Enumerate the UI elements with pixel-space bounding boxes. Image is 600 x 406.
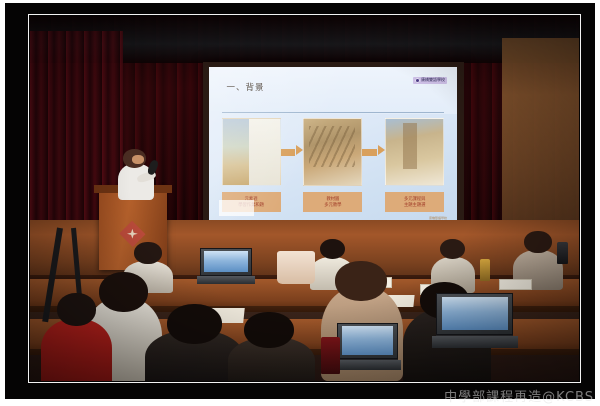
- name-card-3: [499, 279, 532, 290]
- slide-caption-2: 教材圖 多元教學: [303, 192, 362, 212]
- watermark: 中學部課程再造@KCBS: [444, 386, 594, 405]
- laptop-2[interactable]: [436, 293, 513, 348]
- attendee-front-2-head: [167, 304, 222, 344]
- laptop-1-base: [197, 276, 255, 284]
- slide-header-rule: [222, 112, 445, 113]
- laptop-1[interactable]: [200, 248, 252, 285]
- slide-logo-text: 康橋雙語學校: [421, 78, 445, 82]
- attendee-back-3-head: [440, 239, 465, 259]
- attendee-front-1-head: [99, 272, 148, 312]
- caption-2-line-2: 多元教學: [324, 202, 341, 207]
- travel-mug: [321, 337, 340, 374]
- slide-panel-mural: [303, 118, 362, 186]
- slide-logo: 康橋雙語學校: [413, 77, 447, 84]
- laptop-3[interactable]: [337, 323, 397, 370]
- leaf-icon: [251, 123, 266, 134]
- screen-corner-sticker: [219, 200, 254, 215]
- slide-panel-booklet: [222, 118, 281, 186]
- attendee-back-4-head: [524, 231, 551, 253]
- arrow-right-icon-2: [362, 145, 385, 160]
- projection-screen-frame: 一、背景 康橋雙語學校 元素週: [203, 62, 464, 228]
- slide-panel-display: [385, 118, 444, 186]
- attendee-front-3-head: [335, 261, 387, 301]
- rear-wood-panel: [502, 38, 579, 228]
- water-bottle-2: [557, 242, 568, 264]
- laptop-1-screen: [204, 251, 248, 273]
- slide-caption-row: 元素週 學習作業和題 教材圖 多元教學 多元課程與 主題主題選: [222, 190, 445, 213]
- laptop-2-lid: [436, 293, 513, 335]
- lotus-mark-icon: [415, 78, 420, 83]
- photo-frame: 一、背景 康橋雙語學校 元素週: [0, 0, 600, 406]
- water-bottle-1: [480, 259, 490, 281]
- auditorium-photograph: 一、背景 康橋雙語學校 元素週: [30, 16, 579, 381]
- laptop-3-base: [334, 360, 402, 370]
- slide-panel-row: [222, 118, 445, 186]
- booklet-text-lines: [251, 139, 276, 179]
- attendee-back-2-head: [320, 239, 345, 259]
- slide-title: 一、背景: [227, 81, 265, 93]
- laptop-3-screen: [342, 326, 393, 355]
- laptop-1-lid: [200, 248, 252, 276]
- slide-caption-3: 多元課程與 主題主題選: [385, 192, 444, 212]
- laptop-2-screen: [442, 297, 508, 330]
- handbag: [277, 251, 315, 284]
- caption-3-line-2: 主題主題選: [404, 202, 425, 207]
- cameraman-head: [57, 293, 95, 326]
- laptop-2-base: [432, 336, 518, 348]
- attendee-back-1-head: [134, 242, 161, 264]
- arrow-right-icon-1: [281, 145, 304, 160]
- projection-screen: 一、背景 康橋雙語學校 元素週: [209, 67, 457, 221]
- cameraman-red-shirt: [41, 319, 112, 381]
- presenter-face: [132, 155, 144, 164]
- laptop-3-lid: [337, 323, 397, 359]
- attendee-front-4-head: [244, 312, 293, 349]
